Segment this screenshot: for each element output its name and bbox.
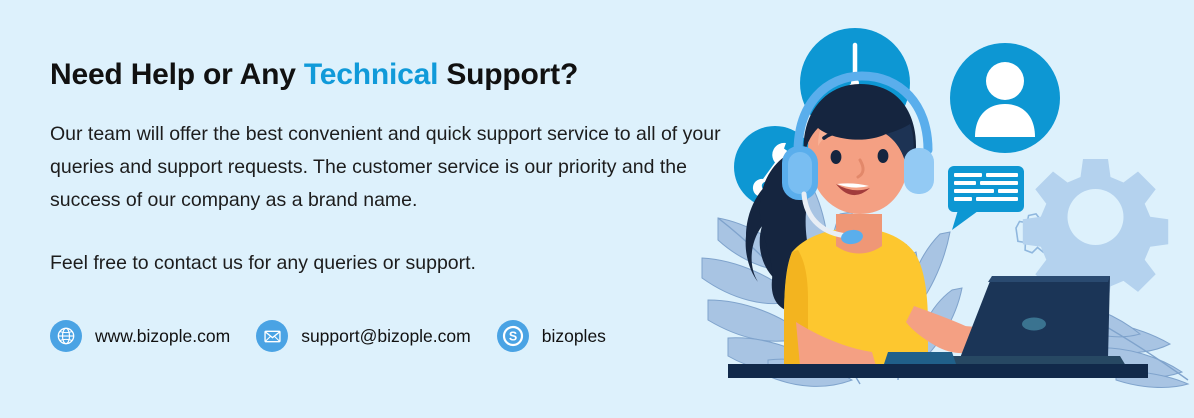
customer-support-agent-illustration [700, 0, 1194, 418]
body-paragraph: Our team will offer the best convenient … [50, 118, 730, 217]
globe-icon [50, 320, 82, 352]
contact-strip: www.bizople.com support@bizople.com S bi… [50, 320, 632, 352]
desk [728, 364, 1148, 378]
earcup-right [904, 148, 934, 194]
skype-icon: S [497, 320, 529, 352]
eye-left [831, 150, 842, 164]
envelope-icon [256, 320, 288, 352]
headline-accent-word: Technical [304, 58, 438, 91]
closing-paragraph: Feel free to contact us for any queries … [50, 247, 730, 280]
chat-speech-bubble [948, 166, 1024, 230]
svg-text:S: S [509, 330, 517, 344]
contact-label-website: www.bizople.com [95, 326, 230, 347]
page-title: Need Help or Any Technical Support? [50, 58, 730, 92]
support-banner: Need Help or Any Technical Support? Our … [0, 0, 1194, 418]
headline-part-1: Need Help or Any [50, 58, 304, 91]
contact-item-website[interactable]: www.bizople.com [50, 320, 230, 352]
contact-item-skype[interactable]: S bizoples [497, 320, 606, 352]
copy-block: Need Help or Any Technical Support? Our … [50, 58, 730, 280]
user-avatar-badge [950, 43, 1060, 153]
contact-label-skype: bizoples [542, 326, 606, 347]
eye-right [878, 149, 889, 163]
headline-part-2: Support? [438, 58, 578, 91]
contact-label-email: support@bizople.com [301, 326, 471, 347]
contact-item-email[interactable]: support@bizople.com [256, 320, 471, 352]
laptop-logo [1022, 318, 1046, 331]
